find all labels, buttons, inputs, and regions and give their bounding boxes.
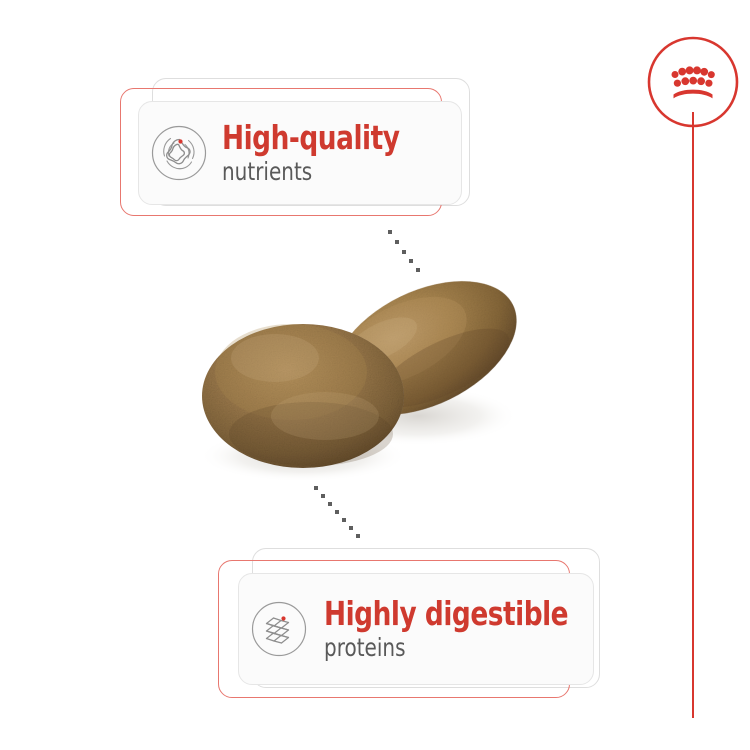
card-subtitle: proteins	[324, 635, 568, 661]
kibble-piece-front	[202, 324, 404, 468]
royal-canin-logo	[645, 34, 741, 130]
card-content: Highly digestible proteins	[250, 580, 586, 678]
poster-canvas: High-quality nutrients	[0, 0, 750, 750]
card-title: Highly digestible	[324, 597, 568, 631]
card-text: Highly digestible proteins	[324, 597, 629, 662]
dotted-diagonal-icon	[314, 486, 360, 538]
accent-dot	[178, 139, 182, 143]
feature-card-nutrients[interactable]: High-quality nutrients	[120, 78, 472, 218]
feature-card-proteins[interactable]: Highly digestible proteins	[218, 548, 604, 700]
card-subtitle: nutrients	[222, 159, 399, 185]
dotted-diagonal-icon	[388, 230, 420, 272]
connector-bottom	[312, 484, 374, 546]
protein-helix-icon	[250, 600, 308, 658]
accent-dot	[281, 616, 285, 620]
card-title: High-quality	[222, 121, 399, 155]
card-text: High-quality nutrients	[222, 121, 444, 185]
connector-top	[386, 228, 430, 276]
brand-vertical-rule	[692, 112, 694, 718]
nutrient-swirl-icon	[150, 124, 208, 182]
crown-in-circle-icon	[649, 38, 737, 126]
kibble-image	[175, 248, 545, 498]
card-content: High-quality nutrients	[150, 108, 450, 198]
